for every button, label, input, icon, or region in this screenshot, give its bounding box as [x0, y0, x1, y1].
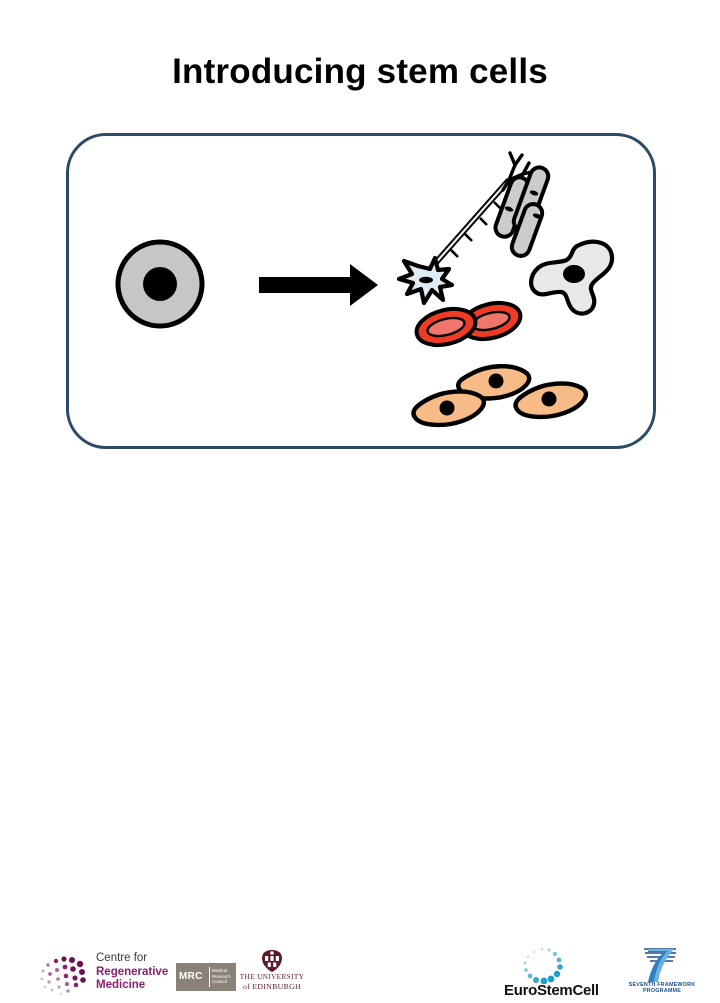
edinburgh-crest-icon	[262, 950, 282, 972]
crm-wordmark: Centre for Regenerative Medicine	[96, 952, 188, 993]
university-of-edinburgh-logo: THE UNIVERSITY of EDINBURGH	[236, 950, 308, 998]
mrc-logo: MRC Medical Research Council	[176, 963, 236, 991]
muscle-fibre-cells-graphic	[493, 165, 551, 259]
stem-cell-differentiation-diagram	[66, 133, 656, 449]
eurostemcell-logo: EuroStemCell	[504, 946, 624, 998]
fp7-seven-icon	[630, 946, 688, 984]
page-title: Introducing stem cells	[0, 52, 720, 92]
crm-line-1: Centre for	[96, 952, 188, 966]
red-blood-cells-graphic	[413, 297, 524, 351]
edinburgh-line-2: of EDINBURGH	[236, 982, 308, 991]
edinburgh-line-1: THE UNIVERSITY	[236, 973, 308, 981]
fibroblast-cell-graphic	[531, 242, 612, 314]
differentiation-arrow-icon	[259, 264, 378, 306]
eurostemcell-ring-icon	[518, 946, 566, 984]
footer-logo-bar: Centre for Regenerative Medicine MRC Med…	[0, 468, 720, 540]
eurostemcell-wordmark: EuroStemCell	[504, 982, 624, 999]
fp7-line-2: PROGRAMME	[622, 988, 702, 994]
mrc-acronym: MRC	[179, 971, 203, 982]
crm-dot-pattern-icon	[34, 954, 92, 998]
slide-canvas: Introducing stem cells	[0, 0, 720, 540]
seventh-framework-programme-logo: SEVENTH FRAMEWORK PROGRAMME	[622, 946, 702, 998]
epithelial-cells-graphic	[412, 366, 587, 427]
crm-line-3: Medicine	[96, 979, 188, 993]
mrc-divider	[209, 967, 210, 987]
mrc-sub-line-3: Council	[212, 979, 236, 985]
mrc-subtext: Medical Research Council	[212, 968, 236, 985]
crm-line-2: Regenerative	[96, 966, 188, 980]
stem-cell-graphic	[118, 242, 202, 326]
centre-for-regenerative-medicine-logo: Centre for Regenerative Medicine	[34, 952, 184, 1000]
